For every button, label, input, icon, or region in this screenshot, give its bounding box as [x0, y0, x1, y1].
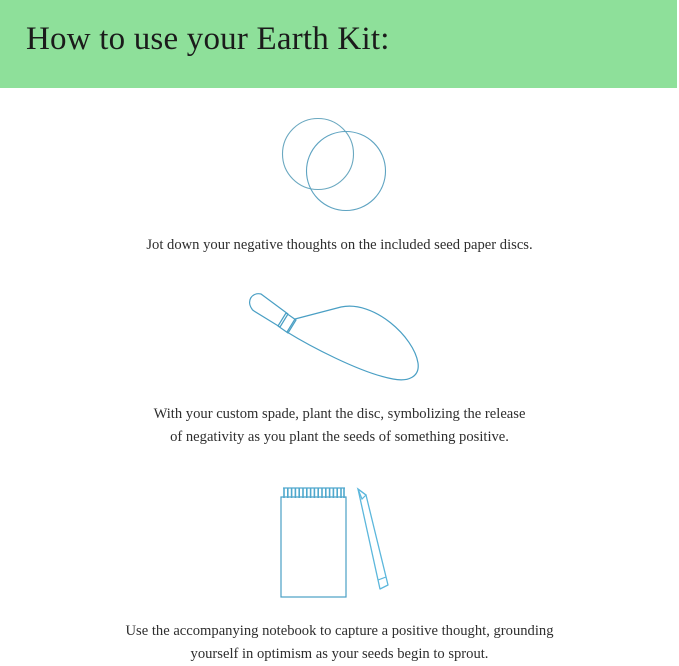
step-caption-line: With your custom spade, plant the disc, …	[154, 406, 526, 422]
step-caption-line: yourself in optimism as your seeds begin…	[191, 646, 489, 662]
notebook-and-pencil-icon	[270, 484, 410, 599]
step-caption-line: of negativity as you plant the seeds of …	[170, 429, 509, 445]
step-item: With your custom spade, plant the disc, …	[0, 257, 679, 449]
pencil-body	[358, 489, 388, 589]
page-title: How to use your Earth Kit:	[26, 21, 390, 58]
pencil	[358, 489, 388, 589]
steps-list: Jot down your negative thoughts on the i…	[0, 88, 679, 666]
step-caption-line: Jot down your negative thoughts on the i…	[146, 237, 532, 253]
step-caption: Jot down your negative thoughts on the i…	[60, 218, 620, 257]
spade-handle	[249, 294, 287, 327]
spade-blade	[287, 306, 418, 380]
header-banner: How to use your Earth Kit:	[0, 0, 677, 88]
step-caption: With your custom spade, plant the disc, …	[60, 383, 620, 449]
step-item: Jot down your negative thoughts on the i…	[0, 88, 679, 257]
garden-spade-figure	[0, 257, 679, 383]
notebook-and-pencil-figure	[0, 449, 679, 599]
seed-paper-discs-figure	[0, 88, 679, 218]
notebook-body	[281, 497, 346, 597]
step-caption-line: Use the accompanying notebook to capture…	[126, 623, 554, 639]
garden-spade-icon	[240, 289, 440, 383]
step-item: Use the accompanying notebook to capture…	[0, 449, 679, 666]
step-caption: Use the accompanying notebook to capture…	[60, 599, 620, 666]
disc-front-circle	[306, 132, 385, 211]
seed-paper-discs-icon	[270, 108, 410, 218]
pencil-ferrule-line	[378, 577, 386, 580]
